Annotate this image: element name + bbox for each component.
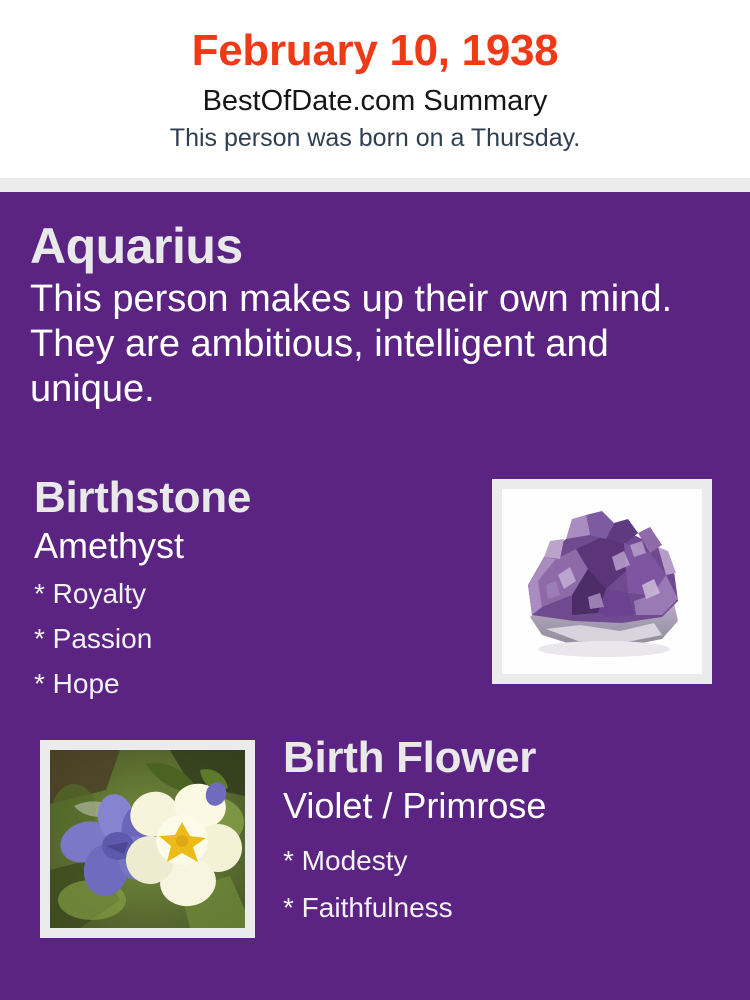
zodiac-section: Aquarius This person makes up their own … <box>30 217 720 412</box>
birthstone-image-frame <box>492 479 712 684</box>
header-divider <box>0 178 750 192</box>
summary-card: February 10, 1938 BestOfDate.com Summary… <box>0 0 750 1000</box>
list-item: * Modesty <box>283 837 733 884</box>
amethyst-crystal-icon <box>502 489 702 674</box>
list-item: * Passion <box>34 616 464 661</box>
list-item: * Hope <box>34 661 464 706</box>
site-subtitle: BestOfDate.com Summary <box>0 78 750 118</box>
amethyst-image <box>502 489 702 674</box>
violet-primrose-icon <box>50 750 245 928</box>
list-item: * Faithfulness <box>283 884 733 931</box>
zodiac-description: This person makes up their own mind. The… <box>30 275 720 412</box>
birthstone-heading: Birthstone <box>34 472 464 524</box>
birthflower-name: Violet / Primrose <box>283 784 733 827</box>
birthstone-section: Birthstone Amethyst * Royalty * Passion … <box>34 472 464 706</box>
card-header: February 10, 1938 BestOfDate.com Summary… <box>0 0 750 178</box>
birthstone-name: Amethyst <box>34 524 464 567</box>
birthflower-image-frame <box>40 740 255 938</box>
flower-image <box>50 750 245 928</box>
zodiac-sign-name: Aquarius <box>30 217 720 275</box>
birthflower-heading: Birth Flower <box>283 732 733 784</box>
birthflower-section: Birth Flower Violet / Primrose * Modesty… <box>283 732 733 931</box>
list-item: * Royalty <box>34 571 464 616</box>
birthstone-trait-list: * Royalty * Passion * Hope <box>34 567 464 706</box>
birthflower-trait-list: * Modesty * Faithfulness <box>283 827 733 931</box>
page-title: February 10, 1938 <box>0 0 750 78</box>
weekday-note: This person was born on a Thursday. <box>0 118 750 153</box>
